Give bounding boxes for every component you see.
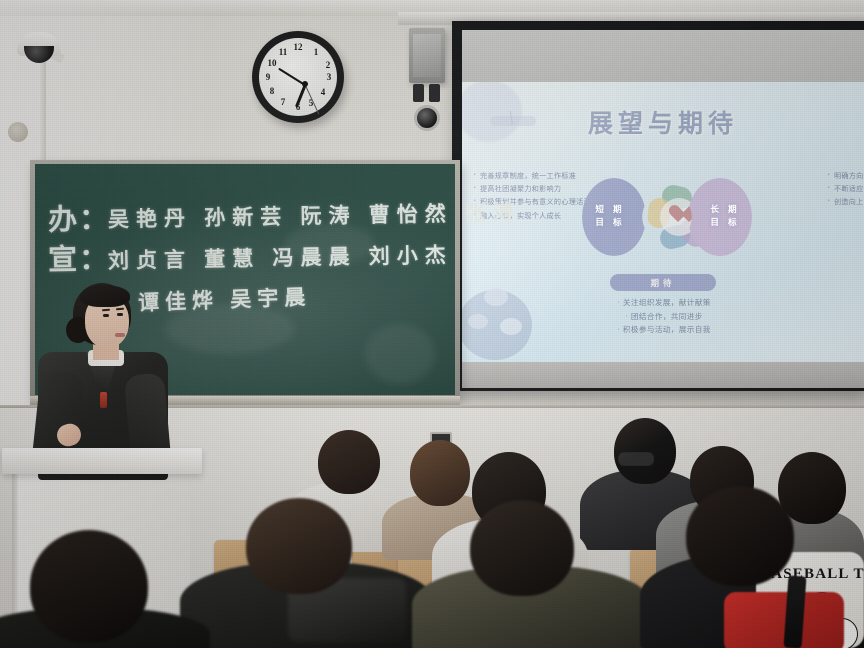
slide-title: 展望与期待 [462, 104, 864, 140]
clock-numeral: 9 [261, 71, 275, 83]
chalk-smudge [365, 324, 435, 384]
long-goal-line1: 长 期 [710, 204, 739, 217]
short-goal-line2: 目 标 [595, 217, 624, 230]
wall-unit-module [429, 84, 440, 102]
cloud-decoration-icon [468, 314, 488, 329]
expectation-item: 团结合作，共同进步 [568, 310, 760, 324]
cloud-decoration-icon [500, 318, 522, 335]
presentation-slide: 展望与期待 完善规章制度，统一工作标准 提高社团凝聚力和影响力 积极策划并参与有… [462, 82, 864, 362]
screen-top-band [462, 30, 864, 82]
clock-face: 12 1 2 3 4 5 6 7 8 9 10 11 [259, 38, 337, 116]
expectation-item: 关注组织发展，献计献策 [568, 296, 760, 310]
long-term-goal-shape: 长 期 目 标 [688, 178, 752, 256]
speaker-eye [103, 314, 109, 317]
speaker-fringe [80, 285, 130, 307]
bullet-item: 不断适应新环境 [834, 183, 864, 195]
long-goal-line2: 目 标 [710, 217, 739, 230]
short-goal-line1: 短 期 [595, 204, 624, 217]
bullet-item: 创造向上氛围 [834, 196, 864, 208]
clock-center-pin [302, 81, 308, 87]
clock-numeral: 3 [322, 71, 336, 83]
clock-numeral: 2 [321, 59, 335, 71]
expectations-pill: 期待 [610, 274, 716, 291]
chalk-label-ban: 办： [47, 195, 110, 239]
wall-unit-module [413, 84, 424, 102]
clock-numeral: 7 [276, 96, 290, 108]
clock-numeral: 1 [309, 46, 323, 58]
screen-bottom-band [462, 362, 864, 388]
short-term-goal-label: 短 期 目 标 [595, 204, 624, 230]
chalk-label-xuan: 宣： [48, 235, 111, 278]
wall-mounted-unit [409, 28, 445, 83]
foreground-head [686, 486, 794, 586]
bear-ear-icon [484, 288, 508, 306]
speaker-mouth [115, 333, 125, 337]
long-term-goal-label: 长 期 目 标 [710, 204, 739, 230]
clock-numeral: 10 [265, 57, 279, 69]
lectern-top [2, 448, 202, 474]
foreground-head [30, 530, 148, 642]
chalk-names-row3: 谭佳烨 吴宇晨 [138, 281, 312, 317]
wall-fixture [8, 122, 28, 142]
expectation-item: 积极参与活动，展示自我 [568, 323, 760, 337]
clock-numeral: 8 [265, 85, 279, 97]
audience-head [318, 430, 380, 494]
speaker-badge [100, 392, 107, 408]
chalk-names-row2: 刘贞言 董慧 冯晨晨 刘小杰 [108, 239, 453, 275]
bullet-item: 明确方向 [834, 170, 864, 182]
clock-numeral: 12 [291, 41, 305, 53]
eyeglasses-icon [618, 452, 654, 466]
classroom-camera-icon [414, 105, 440, 131]
clock-numeral: 4 [316, 86, 330, 98]
foreground-head [470, 500, 574, 596]
wall-clock: 12 1 2 3 4 5 6 7 8 9 10 11 [252, 31, 344, 123]
heart-icon [669, 206, 689, 224]
foreground-head [246, 498, 352, 594]
expectations-list: 关注组织发展，献计献策 团结合作，共同进步 积极参与活动，展示自我 [568, 296, 760, 337]
clock-numeral: 11 [276, 46, 290, 58]
slide-right-bullets: 明确方向 不断适应新环境 创造向上氛围 [834, 170, 864, 210]
audience-head [614, 418, 676, 484]
audience-head [410, 440, 470, 506]
speaker-eye [117, 313, 123, 316]
short-term-goal-shape: 短 期 目 标 [582, 178, 646, 256]
dome-security-camera-icon [17, 32, 61, 56]
classroom-photo: 12 1 2 3 4 5 6 7 8 9 10 11 [0, 0, 864, 648]
